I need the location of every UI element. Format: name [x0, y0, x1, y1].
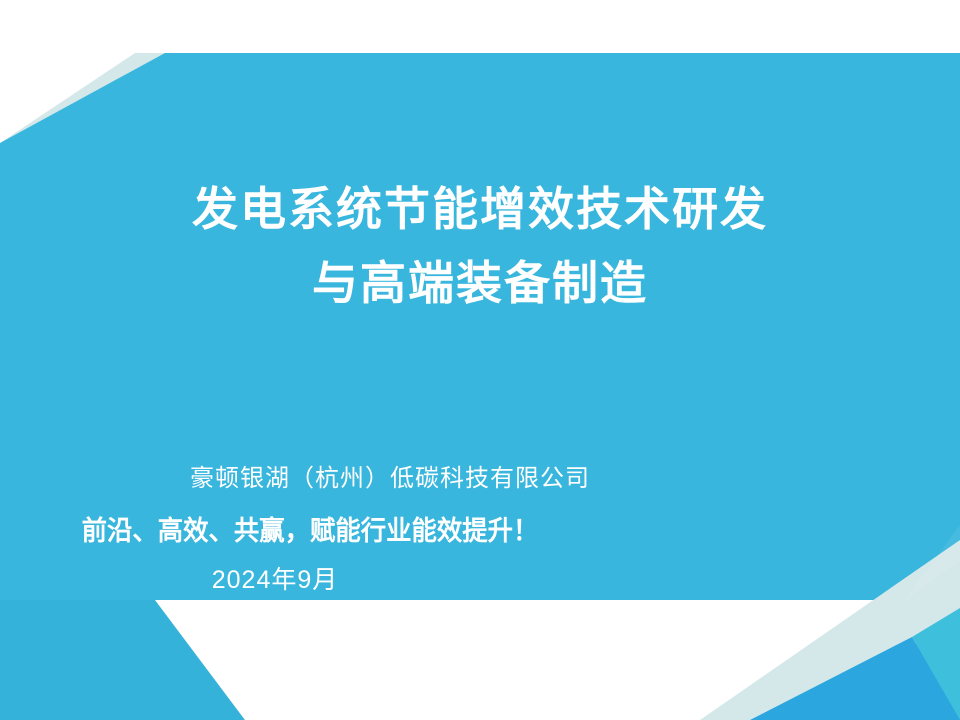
title-line-2: 与高端装备制造	[0, 246, 960, 320]
title-slide: 发电系统节能增效技术研发 与高端装备制造 豪顿银湖（杭州）低碳科技有限公司 前沿…	[0, 0, 960, 720]
slogan-text: 前沿、高效、共赢，赋能行业能效提升！	[82, 512, 539, 550]
organization-name: 豪顿银湖（杭州）低碳科技有限公司	[0, 462, 780, 496]
slogan-block: 前沿、高效、共赢，赋能行业能效提升！	[0, 512, 620, 550]
organization-block: 豪顿银湖（杭州）低碳科技有限公司	[0, 462, 780, 496]
title-line-1: 发电系统节能增效技术研发	[0, 172, 960, 246]
date-text: 2024年9月	[0, 562, 550, 598]
date-block: 2024年9月	[0, 562, 550, 598]
page-title: 发电系统节能增效技术研发 与高端装备制造	[0, 172, 960, 320]
text-layer: 发电系统节能增效技术研发 与高端装备制造 豪顿银湖（杭州）低碳科技有限公司 前沿…	[0, 0, 960, 720]
